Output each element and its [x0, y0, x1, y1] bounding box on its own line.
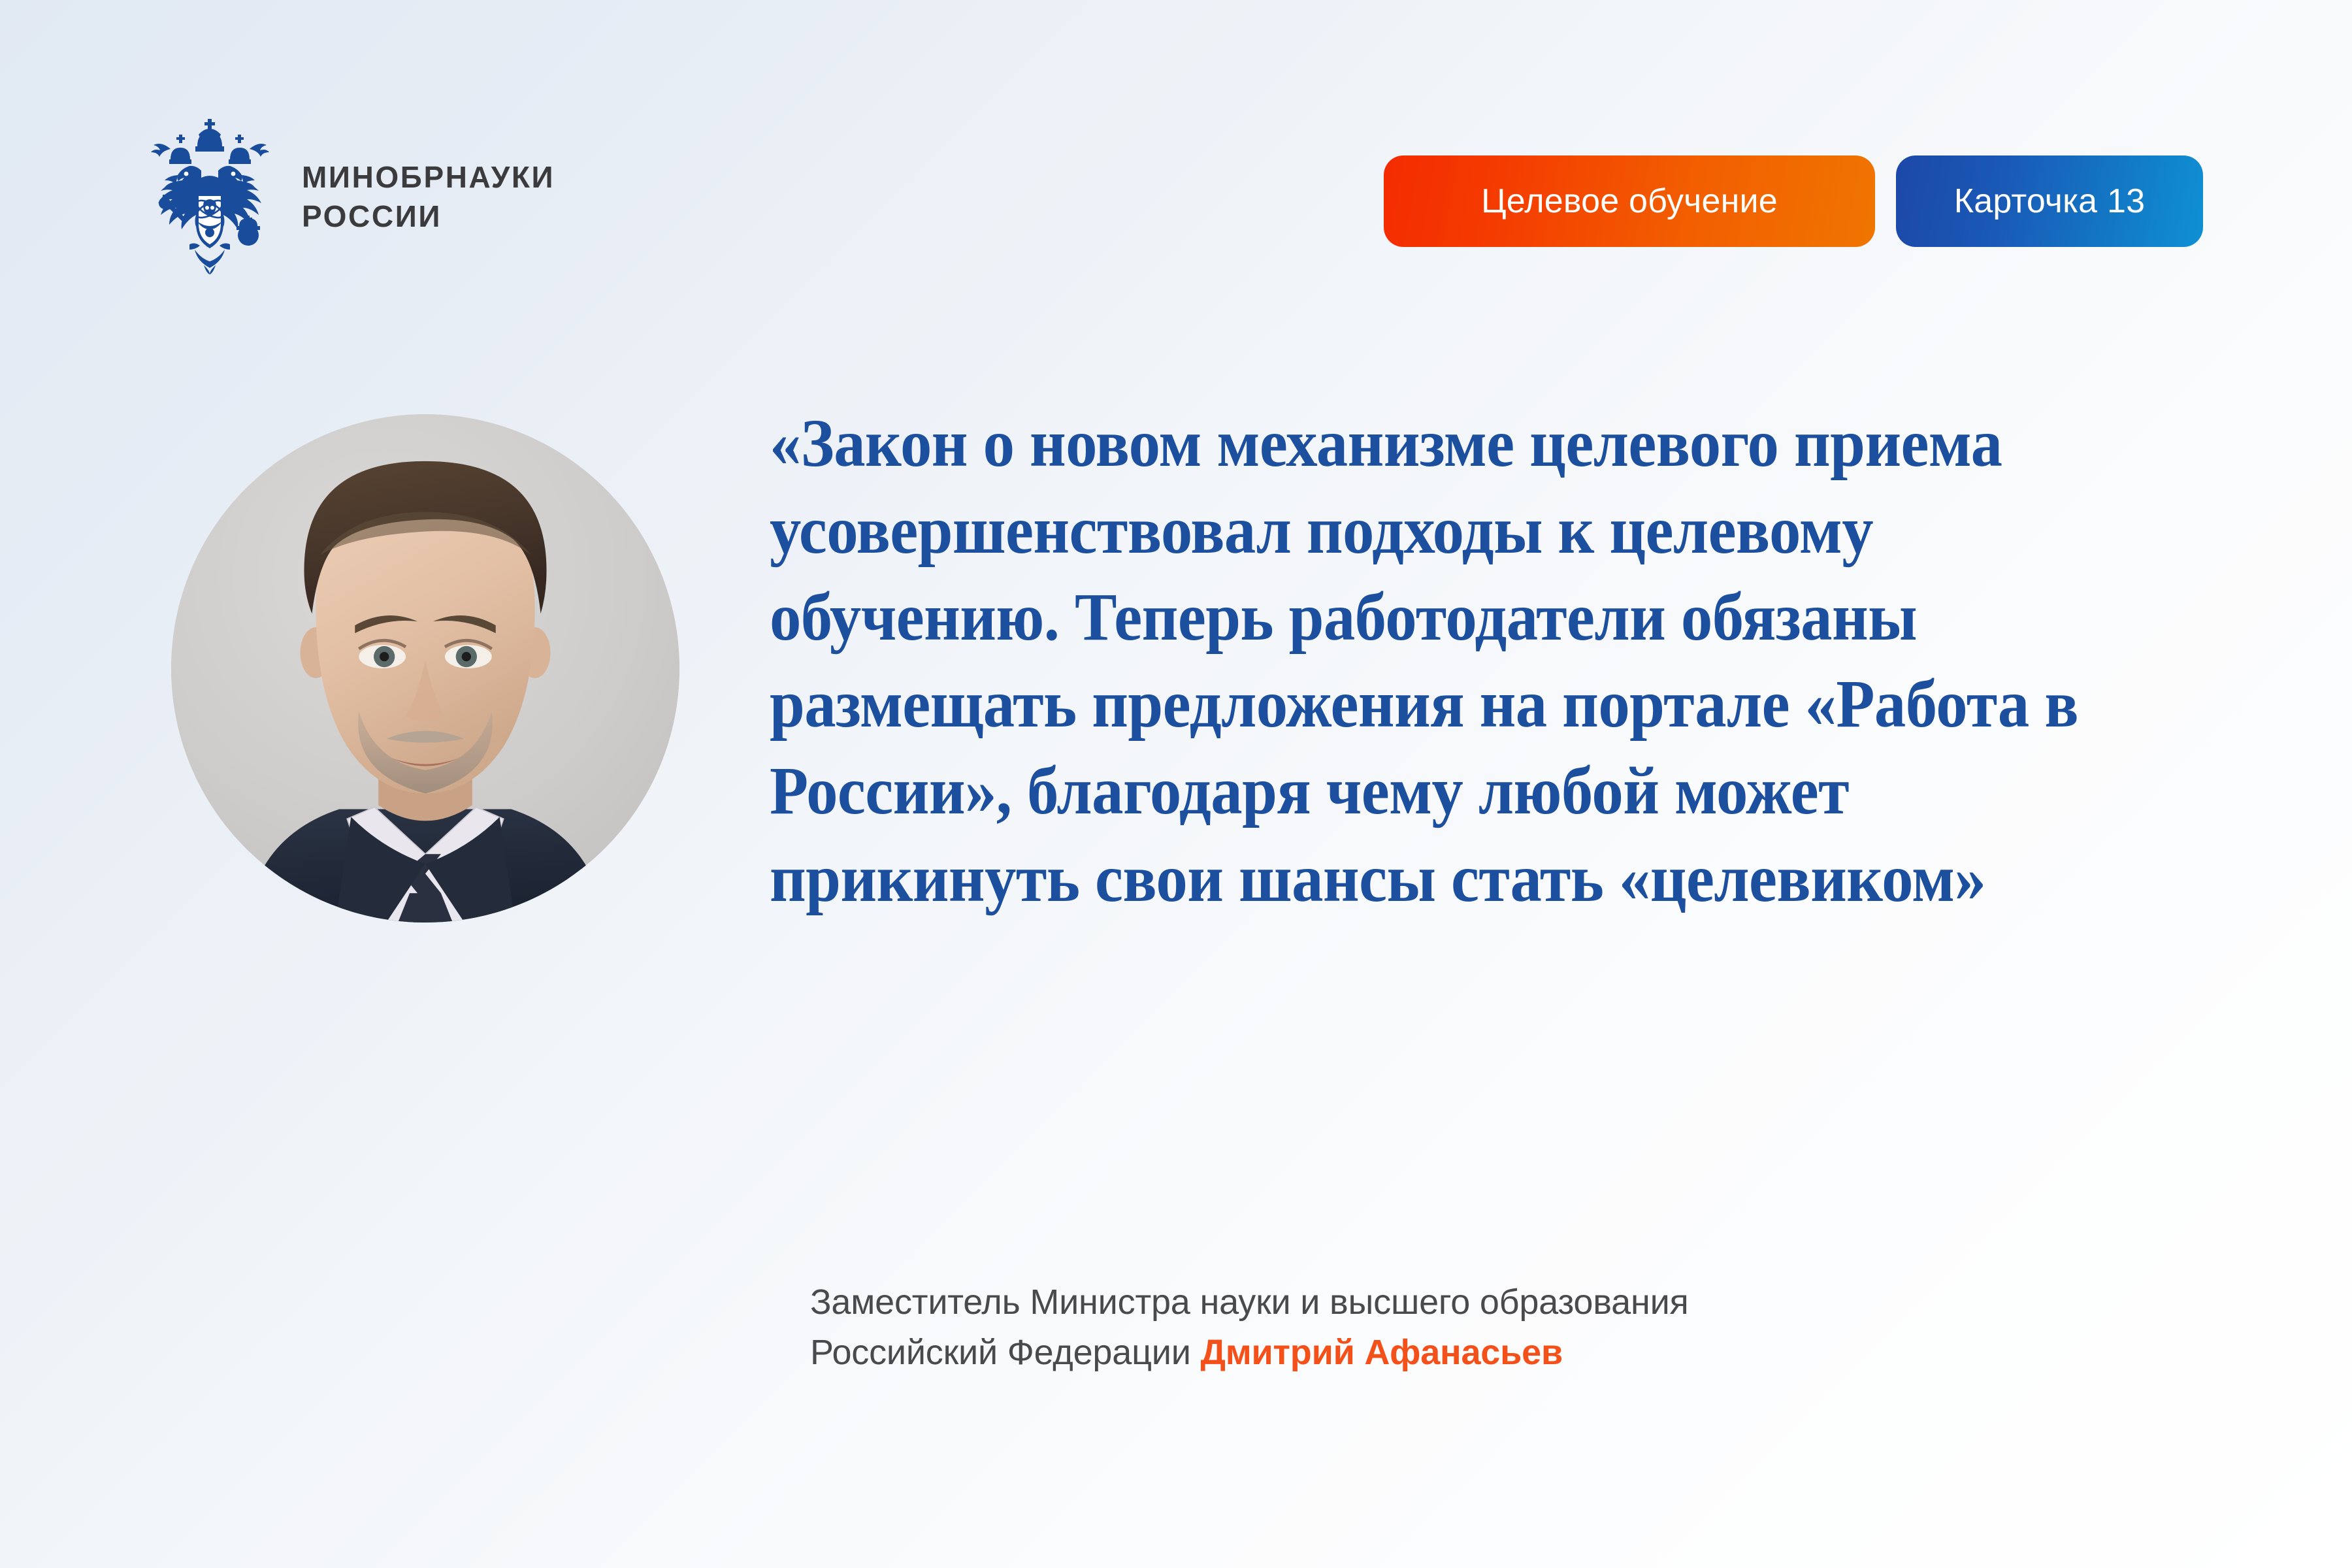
info-card: МИНОБРНАУКИ РОССИИ Целевое обучение Карт…: [0, 0, 2352, 1568]
ministry-name-line2: РОССИИ: [302, 201, 555, 233]
quote-text: «Закон о новом механизме целевого приема…: [770, 400, 2131, 922]
attribution: Заместитель Министра науки и высшего обр…: [810, 1277, 2182, 1377]
topic-badge[interactable]: Целевое обучение: [1384, 155, 1875, 247]
speaker-avatar: [171, 414, 679, 923]
ministry-name-line1: МИНОБРНАУКИ: [302, 161, 555, 194]
portrait-photo: [171, 414, 679, 923]
attribution-role-line2-text: Российский Федерации: [810, 1333, 1201, 1372]
ministry-name: МИНОБРНАУКИ РОССИИ: [302, 151, 555, 233]
speaker-name: Дмитрий Афанасьев: [1201, 1333, 1563, 1372]
attribution-role-line1: Заместитель Министра науки и высшего обр…: [810, 1277, 2182, 1328]
badge-group: Целевое обучение Карточка 13: [1384, 155, 2203, 247]
ministry-logo: МИНОБРНАУКИ РОССИИ: [149, 110, 555, 274]
russian-coat-of-arms-icon: [149, 110, 270, 274]
card-number-badge[interactable]: Карточка 13: [1896, 155, 2203, 247]
attribution-role-line2: Российский Федерации Дмитрий Афанасьев: [810, 1328, 2182, 1378]
